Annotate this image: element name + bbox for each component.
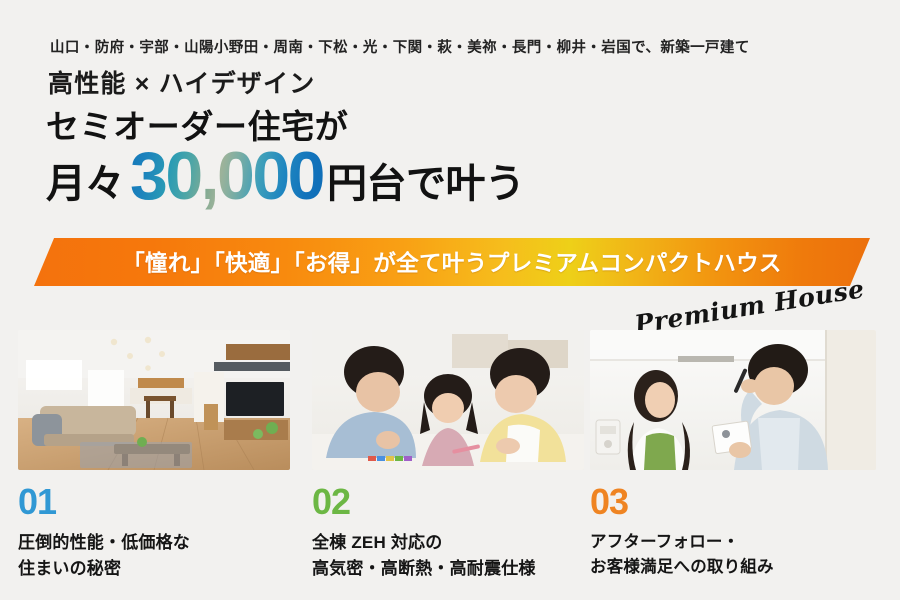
price-prefix-label: 月々 bbox=[46, 164, 124, 204]
promo-banner: 山口・防府・宇部・山陽小野田・周南・下松・光・下関・萩・美祢・長門・柳井・岩国で… bbox=[0, 0, 900, 600]
living-room-photo bbox=[18, 330, 290, 470]
family-photo bbox=[312, 330, 584, 470]
price-headline: 月々 30,000 円台で叶う bbox=[46, 142, 524, 210]
card-number: 01 bbox=[18, 484, 290, 520]
feature-card[interactable]: 01 圧倒的性能・低価格な 住まいの秘密 bbox=[18, 330, 290, 581]
card-title: 全棟 ZEH 対応の 高気密・高断熱・高耐震仕様 bbox=[312, 530, 584, 581]
feature-cards-section: 01 圧倒的性能・低価格な 住まいの秘密 bbox=[0, 330, 900, 600]
card-title: アフターフォロー・ お客様満足への取り組み bbox=[590, 530, 862, 580]
ribbon-section: 「憧れ」「快適」「お得」が全て叶うプレミアムコンパクトハウス Premium H… bbox=[0, 228, 900, 310]
card-number: 02 bbox=[312, 484, 584, 520]
ribbon-tagline: 「憧れ」「快適」「お得」が全て叶うプレミアムコンパクトハウス bbox=[34, 246, 870, 278]
headline-primary: 高性能 × ハイデザイン bbox=[48, 64, 315, 100]
card-title: 圧倒的性能・低価格な 住まいの秘密 bbox=[18, 530, 290, 581]
staff-consultation-photo bbox=[590, 330, 876, 470]
header-section: 山口・防府・宇部・山陽小野田・周南・下松・光・下関・萩・美祢・長門・柳井・岩国で… bbox=[0, 0, 900, 225]
feature-card[interactable]: 03 アフターフォロー・ お客様満足への取り組み bbox=[590, 330, 862, 580]
price-suffix-label: 円台で叶う bbox=[327, 164, 525, 204]
feature-card[interactable]: 02 全棟 ZEH 対応の 高気密・高断熱・高耐震仕様 bbox=[312, 330, 584, 581]
service-area-line: 山口・防府・宇部・山陽小野田・周南・下松・光・下関・萩・美祢・長門・柳井・岩国で… bbox=[50, 36, 750, 57]
price-amount: 30,000 bbox=[130, 142, 323, 210]
card-number: 03 bbox=[590, 484, 862, 520]
